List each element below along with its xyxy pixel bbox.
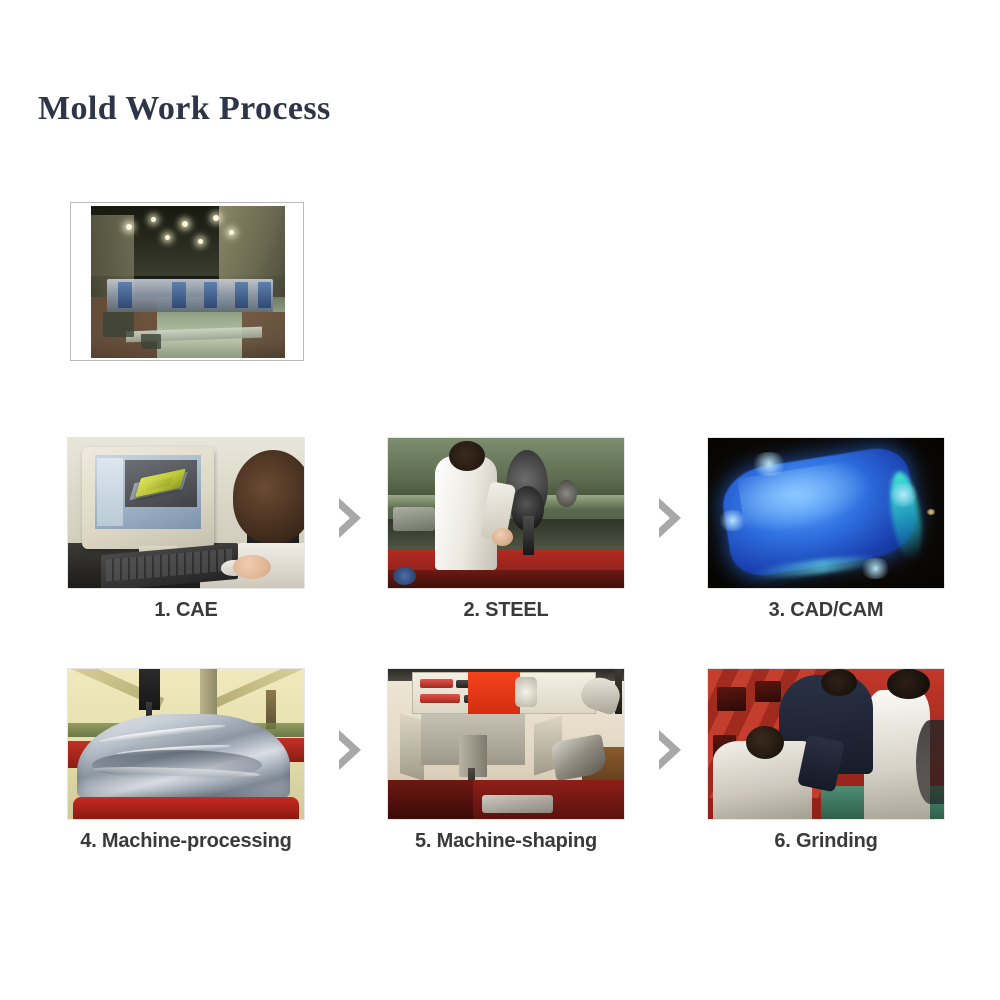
cutting-tool [523,516,535,555]
air-hose [916,720,944,804]
step-label-machine-processing: 4. Machine-processing [67,830,305,853]
mold-cavity-opening [755,681,781,702]
corner-glow [750,452,788,476]
machine-bed-shadow [388,780,473,819]
arrow-step1-to-step2 [327,490,373,546]
software-viewport [125,460,197,507]
process-step-machine-processing[interactable]: 4. Machine-processing [67,668,305,853]
monitor-screen [95,455,201,528]
cadcam-photo [707,437,945,589]
machine-shaping-photo [387,668,625,820]
process-step-grinding[interactable]: 6. Grinding [707,668,945,853]
workpiece [482,795,553,813]
reference-marker [927,509,934,515]
mold-shadow [92,750,262,780]
red-bolster-plate [73,797,300,820]
machine-processing-photo [67,668,305,820]
process-step-machine-shaping[interactable]: 5. Machine-shaping [387,668,625,853]
cae-photo [67,437,305,589]
arrow-step5-to-step6 [647,722,693,778]
machine-way-cover [400,713,424,781]
software-side-panel [97,458,122,526]
corner-glow [859,558,892,579]
engineer-head [233,450,305,543]
arrow-step2-to-step3 [647,490,693,546]
step-label-steel: 2. STEEL [387,599,625,622]
panel-button [420,679,453,688]
process-step-steel[interactable]: 2. STEEL [387,437,625,622]
step-label-cadcam: 3. CAD/CAM [707,599,945,622]
worker-head [449,441,484,471]
corner-glow [717,510,748,531]
worker-two-head [821,669,856,696]
steel-photo [387,437,625,589]
keyboard-keys [107,549,233,582]
mold-ridge [99,722,226,744]
process-step-cae[interactable]: 1. CAE [67,437,305,622]
step-label-cae: 1. CAE [67,599,305,622]
worker-hand [492,528,513,546]
process-flow-grid: 1. CAE 2. STEEL [0,0,1000,1000]
engineer-hand [233,555,271,579]
panel-button [420,694,460,703]
step-label-machine-shaping: 5. Machine-shaping [387,830,625,853]
worker-one-head [746,726,784,759]
arrow-step4-to-step5 [327,722,373,778]
red-base-shadow [388,570,624,588]
red-machine-panel [468,672,520,714]
crt-monitor [82,447,214,549]
mold-cavity-opening [717,687,745,711]
process-step-cadcam[interactable]: 3. CAD/CAM [707,437,945,622]
tool-chuck [556,480,577,507]
machine-gauge [515,677,536,707]
grinding-photo [707,668,945,820]
blue-fixture [393,567,417,585]
worker-three-head [887,669,929,699]
step-label-grinding: 6. Grinding [707,830,945,853]
steel-workpiece [393,507,435,531]
